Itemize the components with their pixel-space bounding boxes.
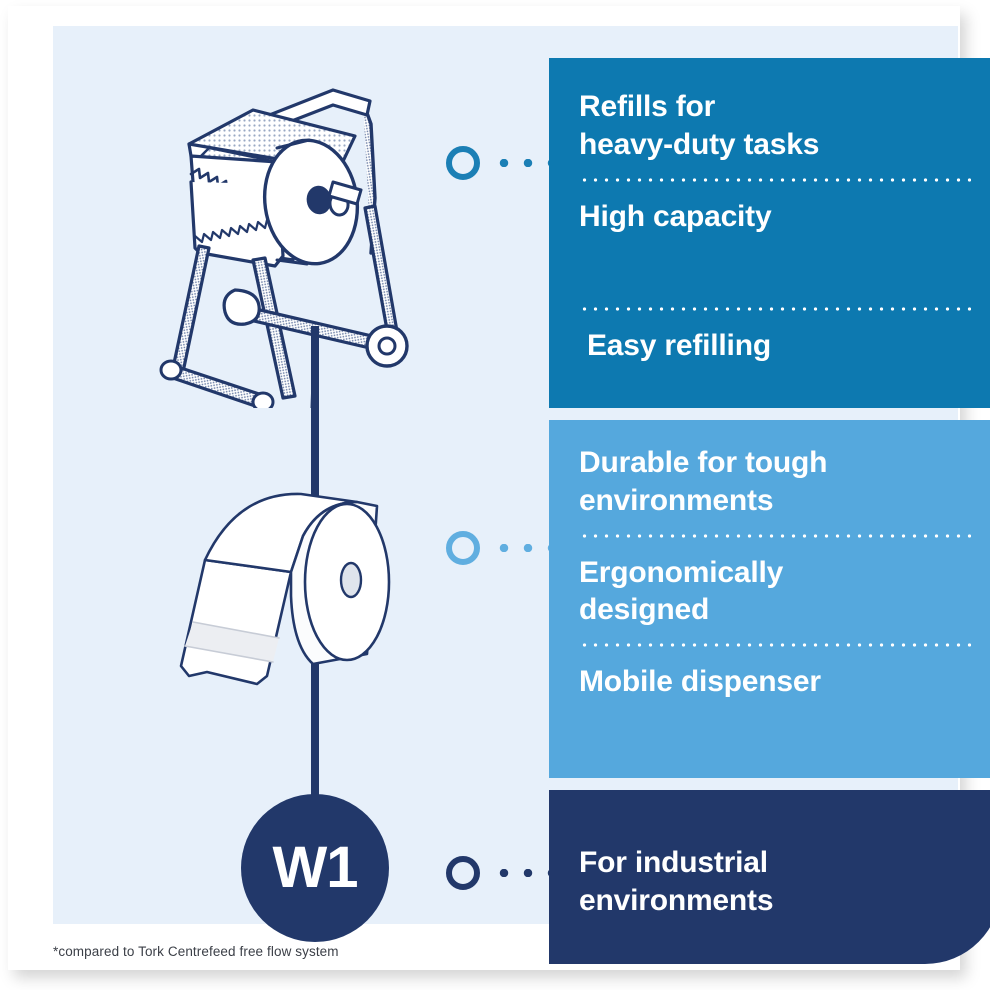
feature-panel-tertiary: For industrial environments [549,790,990,964]
feature-item: Mobile dispenser [579,663,971,701]
feature-line: Durable for tough [579,444,971,482]
feature-item: Durable for tough environments [579,444,971,520]
feature-panel-secondary: Durable for tough environments Ergonomic… [549,420,990,778]
panel-divider [579,643,971,647]
content-stage: W1 Refills for heavy-duty tasks [53,26,958,924]
panel-divider [579,307,971,311]
feature-item: High capacity [579,198,971,236]
feature-item: Refills for heavy-duty tasks [579,88,971,164]
panel-divider [579,534,971,538]
badge-w1: W1 [241,794,389,942]
feature-item: Ergonomically designed [579,554,971,630]
feature-panel-primary: Refills for heavy-duty tasks High capaci… [549,58,990,408]
connector-ring-icon [446,531,480,565]
feature-line: environments [579,482,971,520]
footnote: *compared to Tork Centrefeed free flow s… [53,944,339,959]
badge-label: W1 [273,839,358,897]
feature-line: heavy-duty tasks [579,126,971,164]
card-sheet: W1 Refills for heavy-duty tasks [8,6,960,970]
feature-line: designed [579,591,971,629]
feature-line: Ergonomically [579,554,971,592]
panel-divider [579,178,971,182]
infographic-card: W1 Refills for heavy-duty tasks [0,0,990,990]
paper-roll-illustration [171,476,415,706]
feature-line: For industrial [579,844,971,882]
connector-ring-icon [446,856,480,890]
dispenser-illustration [157,78,429,408]
feature-item: For industrial environments [579,844,971,920]
connector-ring-icon [446,146,480,180]
feature-item: Easy refilling [579,327,971,365]
feature-line: environments [579,882,971,920]
feature-line: Refills for [579,88,971,126]
